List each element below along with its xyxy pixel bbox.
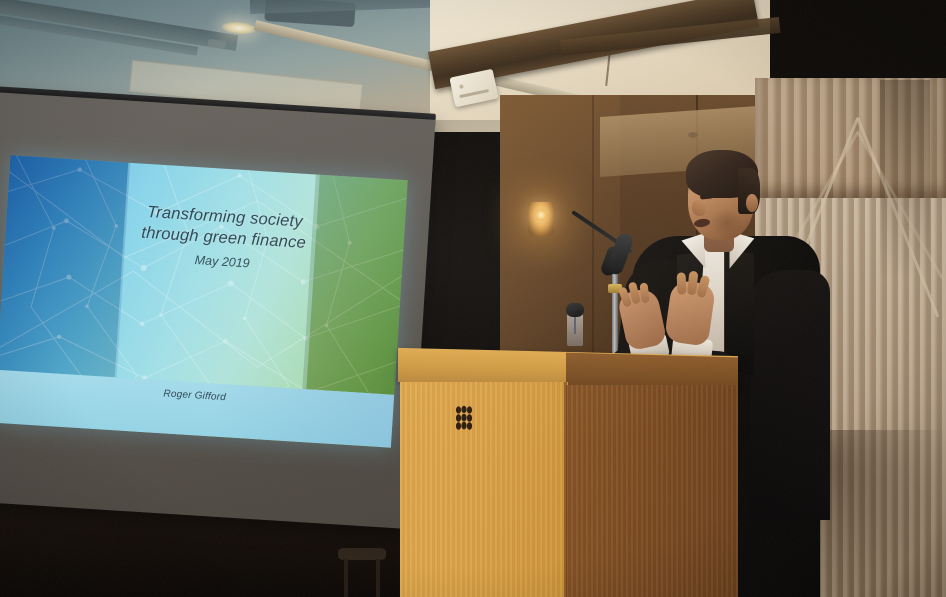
wall-speaker-slot [459,89,489,98]
ceiling-vent [208,39,227,49]
slide-text-panel [115,163,320,390]
slide-text-block: Transforming society through green finan… [122,201,325,275]
projection-screen-surface: Transforming society through green finan… [0,92,436,529]
lectern-microphone-stem [574,314,576,334]
quatrefoil-emblem-icon [455,405,473,433]
ceiling-fixture-icon [688,132,698,138]
lectern-microphone-icon [566,303,584,317]
finger [677,272,687,294]
stool-leg [344,559,348,597]
nose [692,200,706,216]
lectern-corner-edge [564,382,567,597]
projection-screen: Transforming society through green finan… [0,66,448,508]
stool-leg [376,559,380,597]
stool [338,548,386,597]
slide-right-texture [302,174,407,394]
hand [664,279,716,347]
sconce-glow [535,209,547,221]
curtain-shadow [880,80,930,280]
wall-speaker-dot [459,84,464,89]
jacket-arm [750,270,830,520]
ear [746,194,758,212]
slide-left-texture [0,155,130,377]
presentation-photo-scene: Transforming society through green finan… [0,0,946,597]
lectern-front-panel [400,382,568,597]
projected-slide: Transforming society through green finan… [0,155,408,447]
lectern [398,352,738,597]
lectern-side-panel [566,385,738,597]
